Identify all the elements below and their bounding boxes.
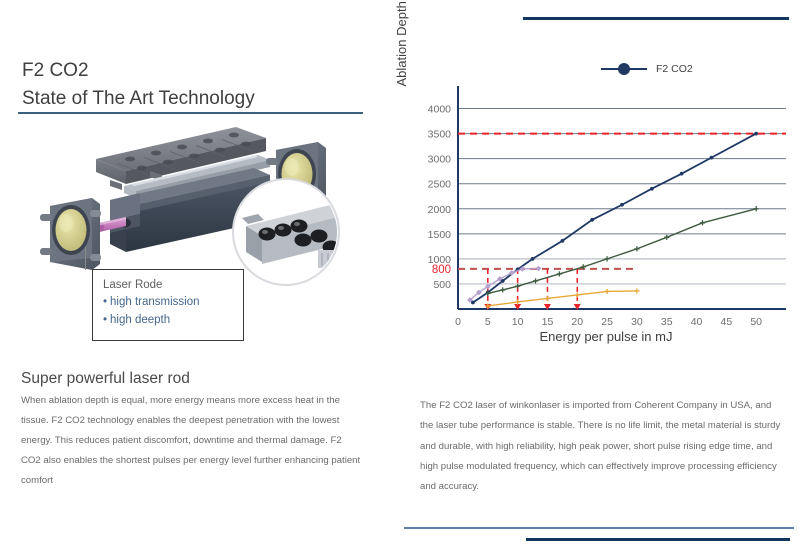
chart-data-marker bbox=[700, 220, 705, 225]
chart-y-tick-label: 1500 bbox=[428, 229, 452, 241]
callout-item-transmission: •high transmission bbox=[103, 294, 234, 312]
bottom-accent-rule bbox=[526, 538, 790, 541]
laser-assembly-svg bbox=[18, 122, 378, 287]
callout-leader-line bbox=[85, 247, 86, 270]
page-title: F2 CO2 State of The Art Technology bbox=[22, 57, 362, 112]
chart-y-tick-label: 3500 bbox=[428, 129, 452, 141]
chart-data-marker bbox=[604, 289, 609, 294]
chart-x-tick-label: 15 bbox=[542, 316, 554, 328]
title-underline bbox=[18, 112, 363, 114]
chart-data-marker bbox=[634, 288, 639, 293]
chart-data-marker bbox=[754, 206, 759, 211]
ablation-depth-chart: F2 CO2 Ablation Depth in µm Energy per p… bbox=[396, 52, 796, 352]
chart-y-tick-label: 4000 bbox=[428, 104, 452, 116]
chart-data-marker bbox=[515, 299, 520, 304]
slide-page: F2 CO2 State of The Art Technology bbox=[0, 0, 800, 553]
callout-item-label: high deepth bbox=[110, 314, 170, 326]
chart-x-tick-label: 40 bbox=[691, 316, 703, 328]
chart-data-marker bbox=[575, 292, 580, 297]
chart-data-marker bbox=[560, 239, 564, 243]
chart-data-marker bbox=[531, 257, 535, 261]
right-body-paragraph: The F2 CO2 laser of winkonlaser is impor… bbox=[420, 396, 782, 498]
chart-x-tick-label: 10 bbox=[512, 316, 524, 328]
chart-data-marker bbox=[545, 296, 550, 301]
chart-data-marker bbox=[557, 271, 562, 276]
chart-data-marker bbox=[680, 172, 684, 176]
chart-data-marker bbox=[590, 218, 594, 222]
title-line-secondary: State of The Art Technology bbox=[22, 85, 362, 113]
section-subheading: Super powerful laser rod bbox=[21, 370, 361, 388]
chart-data-marker bbox=[604, 256, 609, 261]
chart-series-line-3 bbox=[488, 291, 637, 306]
top-accent-rule bbox=[523, 17, 789, 20]
chart-x-tick-label: 30 bbox=[631, 316, 643, 328]
chart-series-line-2 bbox=[488, 209, 756, 294]
chart-y-tick-label: 2000 bbox=[428, 204, 452, 216]
detail-magnifier bbox=[233, 179, 350, 285]
callout-item-label: high transmission bbox=[110, 296, 199, 308]
chart-data-marker bbox=[650, 187, 654, 191]
chart-x-tick-label: 50 bbox=[750, 316, 762, 328]
callout-item-depth: •high deepth bbox=[103, 312, 234, 330]
chart-data-marker bbox=[664, 235, 669, 240]
mirror-mount-left bbox=[40, 198, 101, 270]
chart-y-tick-label: 2500 bbox=[428, 179, 452, 191]
chart-y-tick-label: 500 bbox=[433, 279, 451, 291]
callout-box: Laser Rode •high transmission •high deep… bbox=[92, 269, 244, 341]
bullet-icon: • bbox=[103, 296, 107, 308]
chart-data-marker bbox=[536, 266, 542, 272]
chart-x-tick-label: 0 bbox=[455, 316, 461, 328]
chart-y-tick-label: 3000 bbox=[428, 154, 452, 166]
chart-x-tick-label: 45 bbox=[721, 316, 733, 328]
title-line-primary: F2 CO2 bbox=[22, 57, 362, 85]
chart-data-marker bbox=[634, 246, 639, 251]
chart-data-marker bbox=[471, 301, 475, 305]
chart-x-tick-label: 35 bbox=[661, 316, 673, 328]
chart-x-tick-label: 25 bbox=[601, 316, 613, 328]
chart-data-marker bbox=[620, 203, 624, 207]
chart-data-marker bbox=[710, 156, 714, 160]
chart-data-marker bbox=[533, 278, 538, 283]
chart-plot-area: 5001000150020002500300035004000800051015… bbox=[396, 52, 796, 352]
chart-data-marker bbox=[500, 287, 505, 292]
left-body-paragraph: When ablation depth is equal, more energ… bbox=[21, 391, 361, 491]
chart-data-marker bbox=[754, 132, 758, 136]
chart-y-tick-label-highlight: 800 bbox=[432, 264, 451, 276]
chart-x-tick-label: 5 bbox=[485, 316, 491, 328]
laser-assembly-illustration bbox=[18, 122, 378, 287]
callout-title: Laser Rode bbox=[103, 277, 234, 294]
chart-x-tick-label: 20 bbox=[571, 316, 583, 328]
bullet-icon: • bbox=[103, 314, 107, 326]
bottom-thin-rule bbox=[404, 527, 794, 529]
